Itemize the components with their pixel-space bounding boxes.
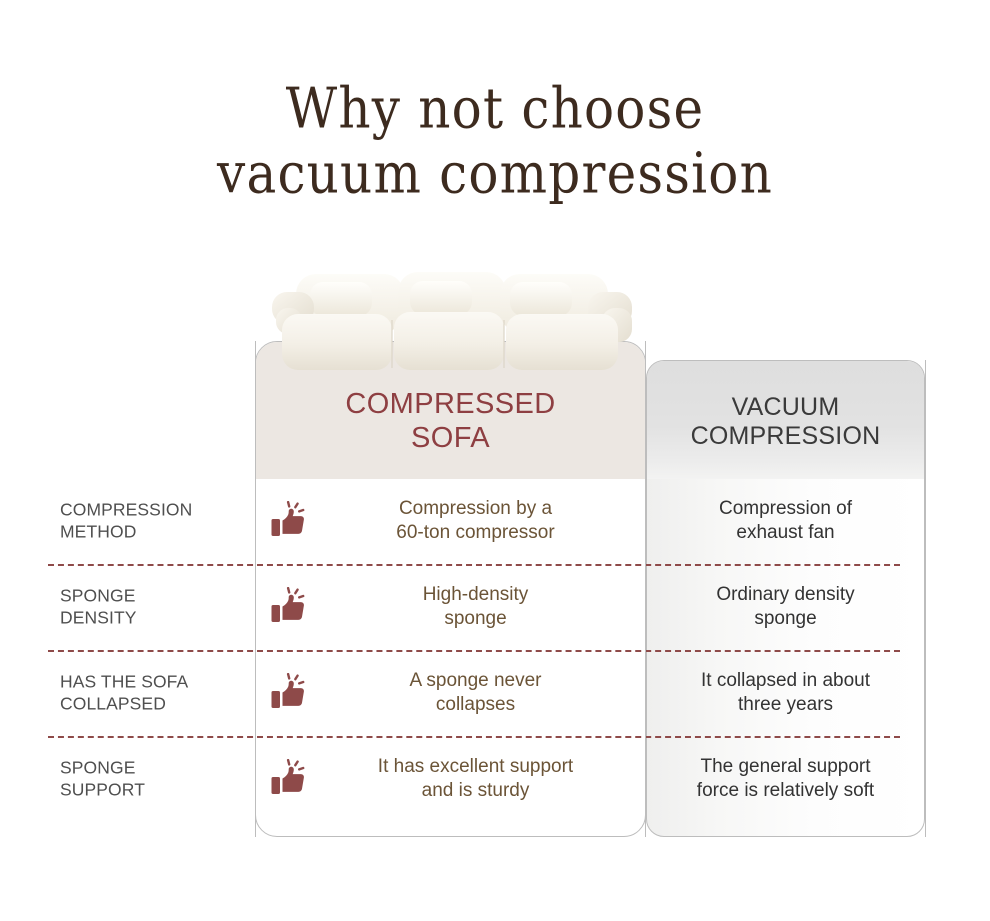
row-right-cell-has-the-sofa-collapsed: It collapsed in about three years	[647, 650, 924, 736]
thumbs-up-icon	[270, 759, 310, 799]
row-label-sponge-density: SPONGE DENSITY	[60, 585, 255, 630]
thumbs-up-icon	[270, 673, 310, 713]
row-divider	[48, 650, 900, 652]
row-right-cell-sponge-support: The general support force is relatively …	[647, 736, 924, 822]
row-right-text: Compression of exhaust fan	[719, 497, 852, 546]
row-left-cell-sponge-density: High-density sponge	[256, 564, 645, 650]
row-right-text: Ordinary density sponge	[716, 583, 854, 632]
page-title-line-2: vacuum compression	[0, 141, 990, 207]
table-row: SPONGE DENSITY Hig	[0, 564, 990, 650]
compressed-sofa-header-label: COMPRESSED SOFA	[255, 388, 646, 456]
row-left-text: A sponge never collapses	[320, 669, 631, 718]
thumbs-up-icon	[270, 587, 310, 627]
table-row: COMPRESSION METHOD	[0, 478, 990, 564]
row-left-text: High-density sponge	[320, 583, 631, 632]
left-card-left-border	[255, 341, 256, 837]
row-right-cell-compression-method: Compression of exhaust fan	[647, 478, 924, 564]
row-left-text: Compression by a 60-ton compressor	[320, 497, 631, 546]
row-divider	[48, 564, 900, 566]
comparison-table: COMPRESSED SOFA VACUUM COMPRESSION COMPR…	[0, 262, 990, 862]
table-row: SPONGE SUPPORT It	[0, 736, 990, 822]
row-divider	[48, 736, 900, 738]
right-card-right-border	[925, 360, 926, 837]
row-right-text: It collapsed in about three years	[701, 669, 870, 718]
comparison-rows: COMPRESSION METHOD	[0, 478, 990, 822]
row-left-cell-sponge-support: It has excellent support and is sturdy	[256, 736, 645, 822]
row-left-text: It has excellent support and is sturdy	[320, 755, 631, 804]
row-label-has-the-sofa-collapsed: HAS THE SOFA COLLAPSED	[60, 671, 255, 716]
table-row: HAS THE SOFA COLLAPSED	[0, 650, 990, 736]
vacuum-compression-header-label: VACUUM COMPRESSION	[646, 393, 925, 452]
row-label-compression-method: COMPRESSION METHOD	[60, 499, 255, 544]
row-right-cell-sponge-density: Ordinary density sponge	[647, 564, 924, 650]
comparison-infographic: Why not choose vacuum compression	[0, 0, 990, 921]
row-label-sponge-support: SPONGE SUPPORT	[60, 757, 255, 802]
row-right-text: The general support force is relatively …	[697, 755, 874, 804]
page-title-line-1: Why not choose	[0, 76, 990, 142]
thumbs-up-icon	[270, 501, 310, 541]
row-left-cell-has-the-sofa-collapsed: A sponge never collapses	[256, 650, 645, 736]
page-title: Why not choose vacuum compression	[0, 76, 990, 200]
left-card-right-border	[645, 341, 646, 837]
row-left-cell-compression-method: Compression by a 60-ton compressor	[256, 478, 645, 564]
